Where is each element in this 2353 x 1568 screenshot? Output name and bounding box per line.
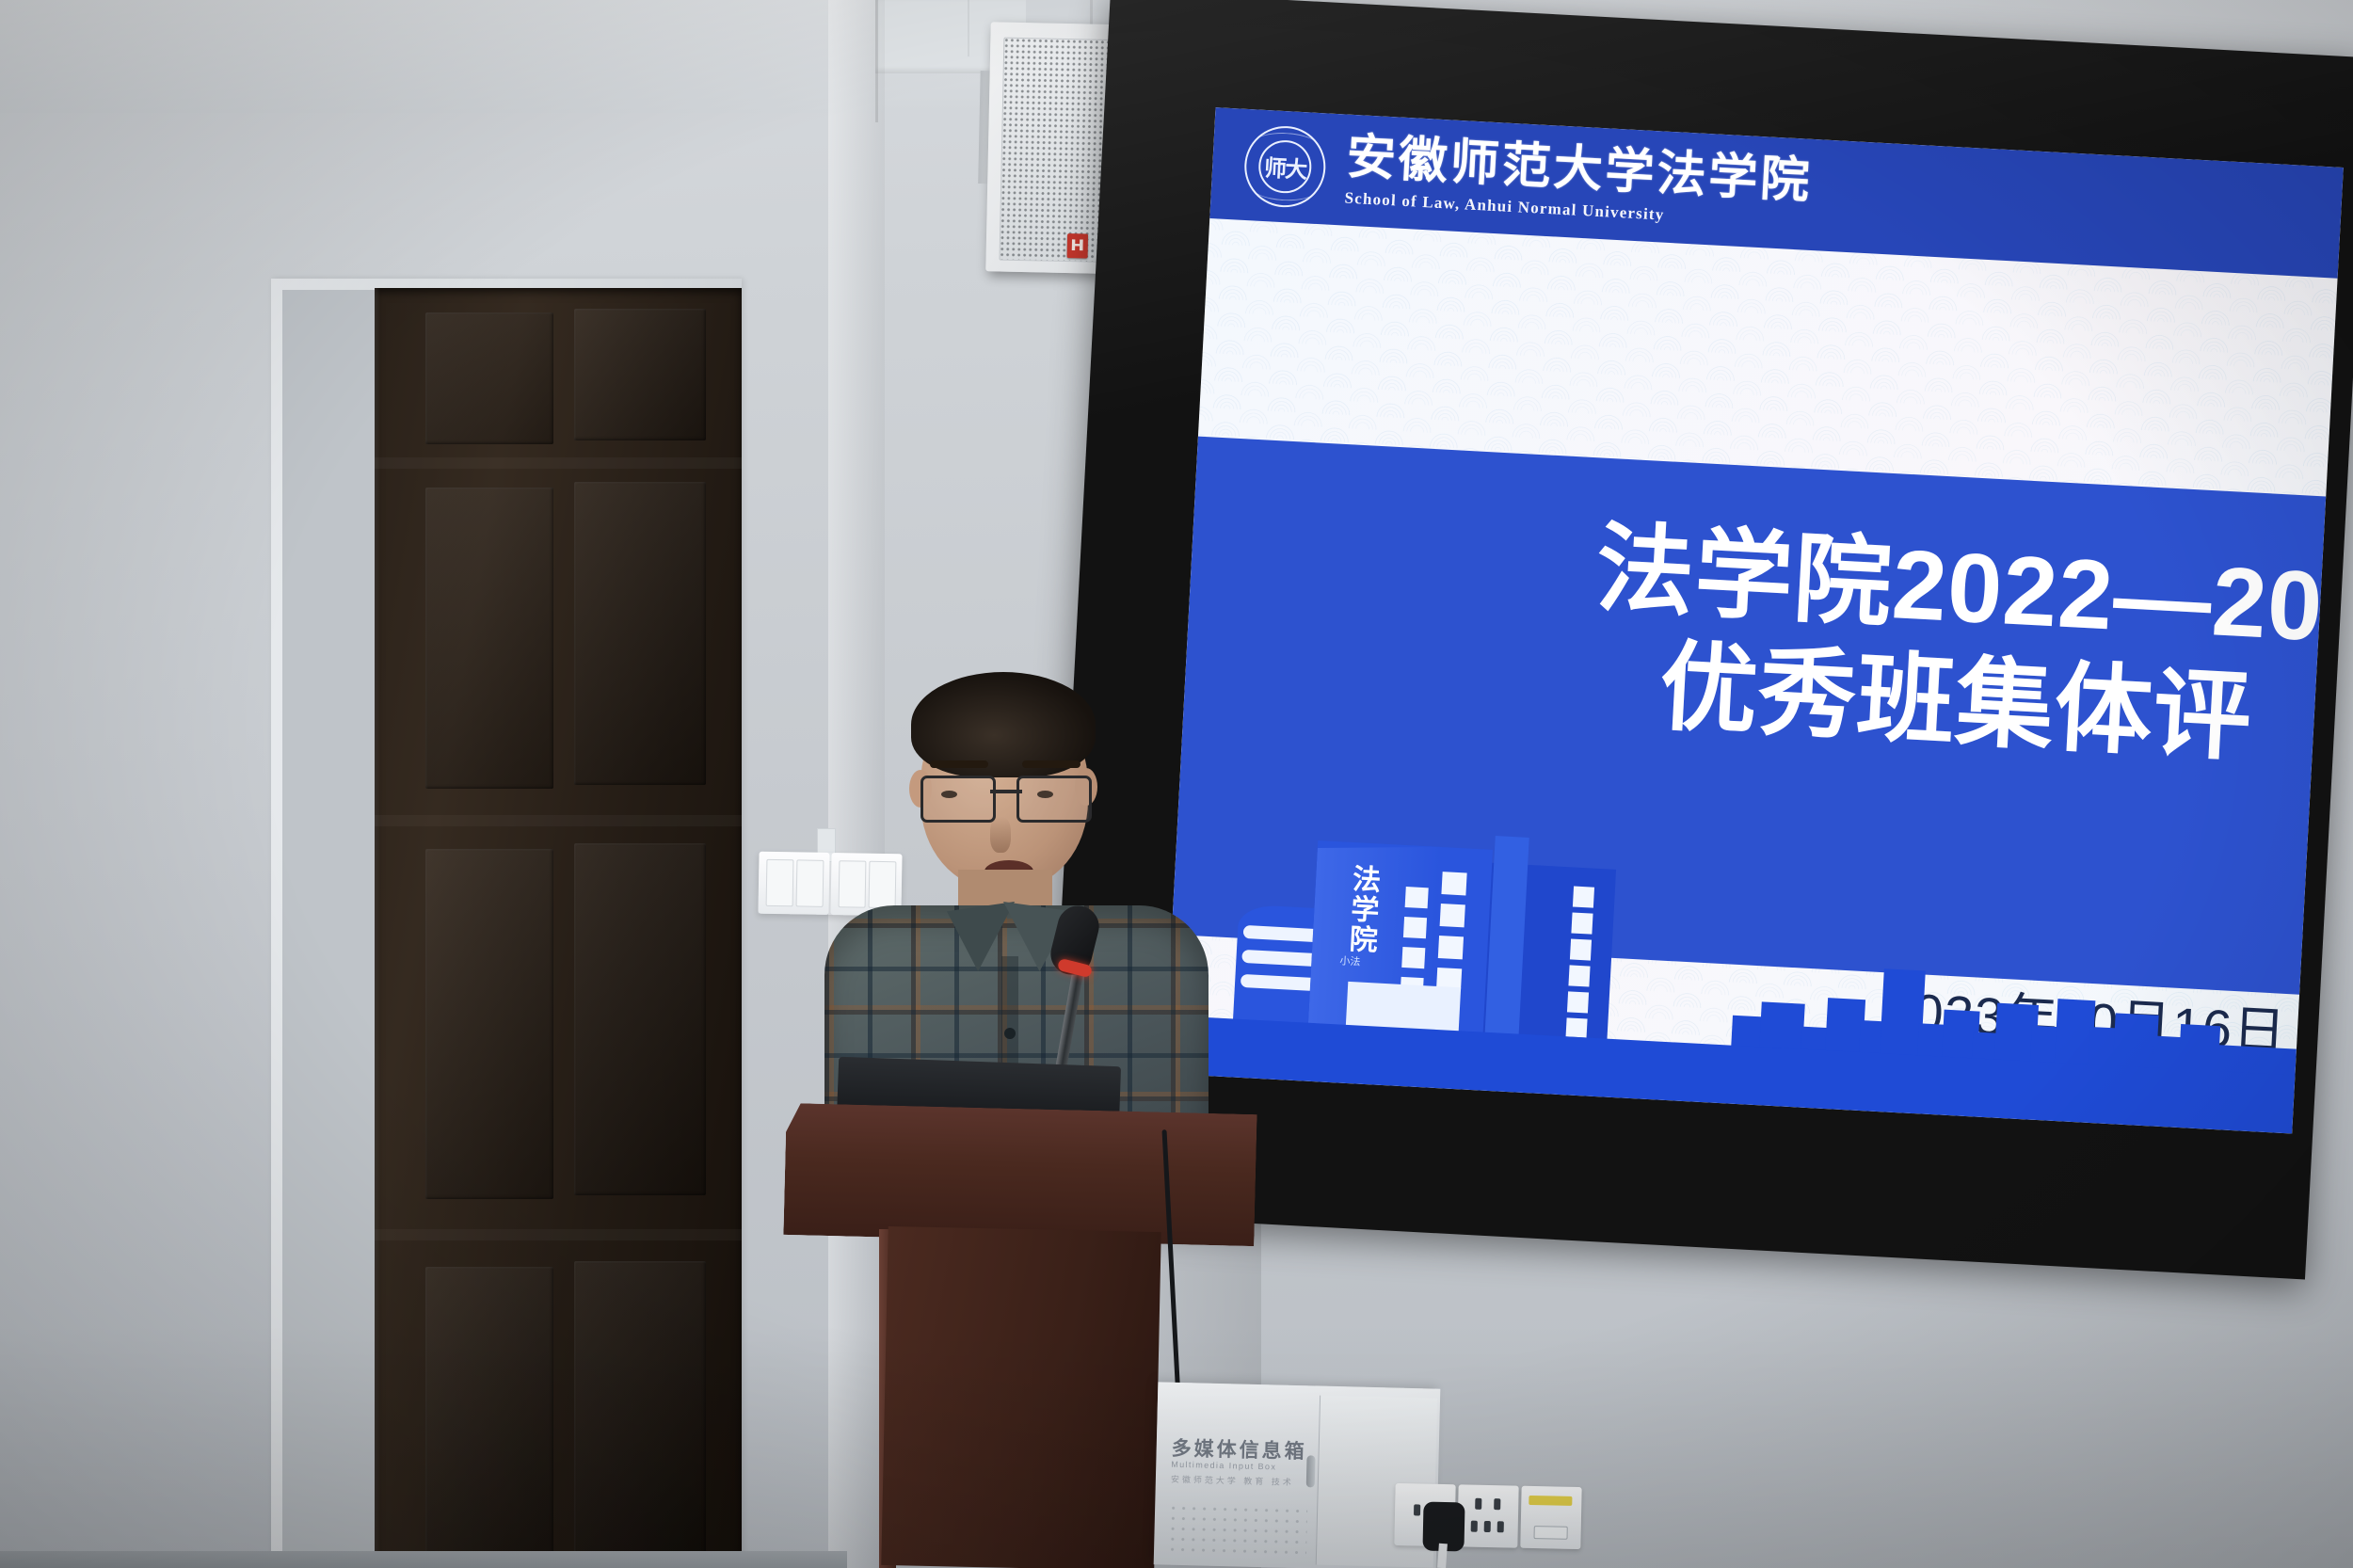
nose: [990, 817, 1011, 853]
wall-seam: [968, 0, 969, 56]
window: [1573, 887, 1594, 908]
curved-building-wing: [1233, 904, 1321, 1029]
window: [1568, 965, 1590, 986]
window: [1567, 991, 1589, 1013]
eyeglasses-icon: [919, 776, 1094, 819]
lecture-room-photo: 师大 安徽师范大学法学院 School of Law, Anhui Normal…: [0, 0, 2353, 1568]
window: [1571, 912, 1593, 934]
door-panel: [425, 312, 553, 444]
window-band: [1243, 925, 1316, 942]
door-rail: [375, 1229, 742, 1240]
building-sub-label: 小法: [1339, 952, 1361, 968]
window: [1441, 872, 1466, 895]
window-band: [1241, 974, 1313, 991]
building-name-label: 法学院: [1344, 865, 1386, 956]
window: [1438, 936, 1464, 959]
window: [1440, 904, 1465, 927]
door-panel: [574, 843, 706, 1195]
projection-screen[interactable]: 师大 安徽师范大学法学院 School of Law, Anhui Normal…: [1046, 0, 2353, 1279]
wall-bottom-shading: [0, 1323, 2353, 1568]
law-school-building-skyline: 法学院 小法: [1164, 792, 2307, 1133]
speaker-brand-badge: [1066, 233, 1088, 258]
lens: [1016, 776, 1092, 823]
slide-header-text: 安徽师范大学法学院 School of Law, Anhui Normal Un…: [1344, 133, 1814, 232]
shirt-button: [1004, 1028, 1016, 1039]
presentation-slide: 师大 安徽师范大学法学院 School of Law, Anhui Normal…: [1164, 107, 2344, 1133]
door-panel: [425, 488, 553, 789]
glasses-bridge: [990, 790, 1022, 793]
window: [1401, 947, 1425, 968]
door-panel: [574, 482, 706, 785]
door-panel: [574, 309, 706, 440]
window: [1405, 887, 1429, 908]
window-band: [1241, 950, 1314, 967]
switch-rocker[interactable]: [766, 859, 794, 906]
window: [1403, 917, 1427, 938]
window: [1570, 938, 1592, 960]
lens: [920, 776, 996, 823]
door-panel: [425, 849, 553, 1199]
window: [1566, 1017, 1588, 1037]
eyebrow: [1022, 760, 1080, 768]
lectern-top: [783, 1103, 1257, 1246]
door-rail: [375, 457, 742, 469]
seal-glyph: 师大: [1245, 148, 1324, 184]
door-rail: [375, 815, 742, 826]
university-seal-icon: 师大: [1242, 124, 1327, 209]
eyebrow: [930, 760, 988, 768]
